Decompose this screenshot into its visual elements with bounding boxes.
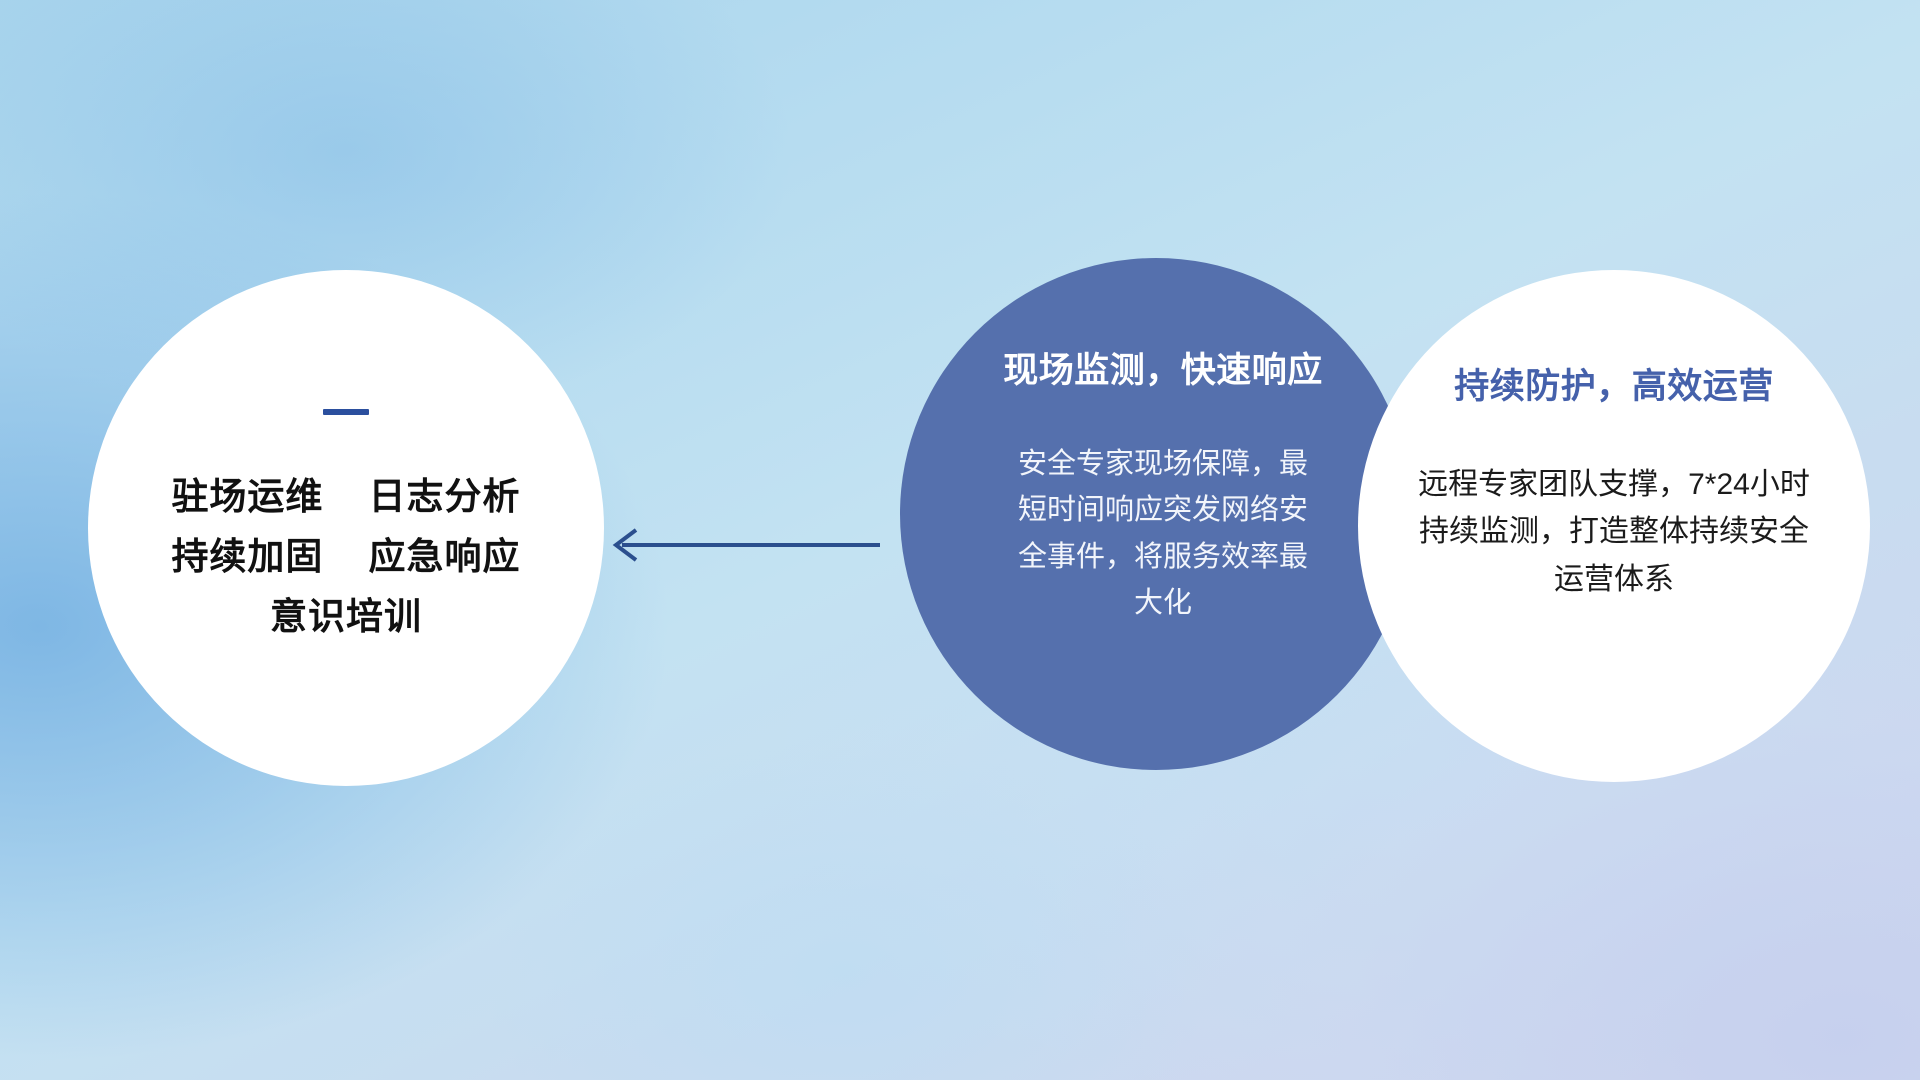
circle-onsite-monitoring-body: 安全专家现场保障，最短时间响应突发网络安全事件，将服务效率最大化 [1008, 441, 1318, 627]
circle-continuous-protection-body: 远程专家团队支撑，7*24小时持续监测，打造整体持续安全运营体系 [1408, 461, 1820, 603]
list-item: 意识培训 [171, 587, 520, 647]
circle-continuous-protection[interactable]: 持续防护，高效运营 远程专家团队支撑，7*24小时持续监测，打造整体持续安全运营… [1358, 270, 1870, 782]
list-item: 持续加固 应急响应 [171, 527, 520, 587]
slide-canvas: 现场监测，快速响应 安全专家现场保障，最短时间响应突发网络安全事件，将服务效率最… [0, 0, 1920, 1080]
circle-onsite-monitoring[interactable]: 现场监测，快速响应 安全专家现场保障，最短时间响应突发网络安全事件，将服务效率最… [900, 258, 1412, 770]
circle-service-capabilities[interactable]: 驻场运维 日志分析 持续加固 应急响应 意识培训 [88, 270, 604, 786]
list-item: 驻场运维 日志分析 [171, 467, 520, 527]
service-capability-list: 驻场运维 日志分析 持续加固 应急响应 意识培训 [171, 467, 520, 647]
circle-onsite-monitoring-title: 现场监测，快速响应 [1003, 342, 1323, 393]
arrow-left-icon [602, 522, 882, 568]
circle-continuous-protection-title: 持续防护，高效运营 [1454, 358, 1774, 409]
divider-dash [323, 409, 369, 415]
